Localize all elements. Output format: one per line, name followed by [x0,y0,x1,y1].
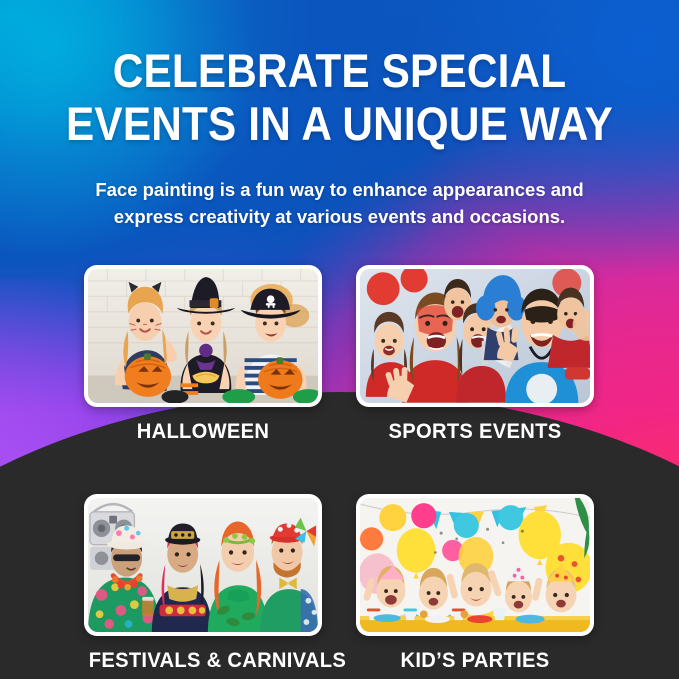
category-row-1: HALLOWEEN [84,265,594,444]
halloween-illustration [88,269,318,403]
sports-events-illustration [360,269,590,403]
kids-parties-illustration [360,498,590,632]
caption-kids-parties: KID’S PARTIES [361,649,589,673]
photo-sports-events [360,269,590,403]
page-title: CELEBRATE SPECIAL EVENTS IN A UNIQUE WAY [34,44,645,150]
caption-sports-events: SPORTS EVENTS [361,420,589,444]
subtitle-line-1: Face painting is a fun way to enhance ap… [60,176,619,203]
headline-line-2: EVENTS IN A UNIQUE WAY [34,97,645,150]
photo-card-festivals-carnivals[interactable] [84,494,322,636]
photo-halloween [88,269,318,403]
category-cell-sports-events[interactable]: SPORTS EVENTS [356,265,594,444]
subtitle: Face painting is a fun way to enhance ap… [60,176,619,230]
category-cell-festivals-carnivals[interactable]: FESTIVALS & CARNIVALS [84,494,322,673]
poster-content: CELEBRATE SPECIAL EVENTS IN A UNIQUE WAY… [0,0,679,679]
category-grid: HALLOWEEN [84,265,594,673]
category-row-2: FESTIVALS & CARNIVALS [84,494,594,673]
poster-canvas: CELEBRATE SPECIAL EVENTS IN A UNIQUE WAY… [0,0,679,679]
photo-festivals-carnivals [88,498,318,632]
headline-line-1: CELEBRATE SPECIAL [34,44,645,97]
category-cell-kids-parties[interactable]: KID’S PARTIES [356,494,594,673]
subtitle-line-2: express creativity at various events and… [60,203,619,230]
photo-card-kids-parties[interactable] [356,494,594,636]
photo-kids-parties [360,498,590,632]
photo-card-sports-events[interactable] [356,265,594,407]
caption-halloween: HALLOWEEN [89,420,317,444]
caption-festivals-carnivals: FESTIVALS & CARNIVALS [89,649,317,673]
festivals-carnivals-illustration [88,498,318,632]
photo-card-halloween[interactable] [84,265,322,407]
category-cell-halloween[interactable]: HALLOWEEN [84,265,322,444]
